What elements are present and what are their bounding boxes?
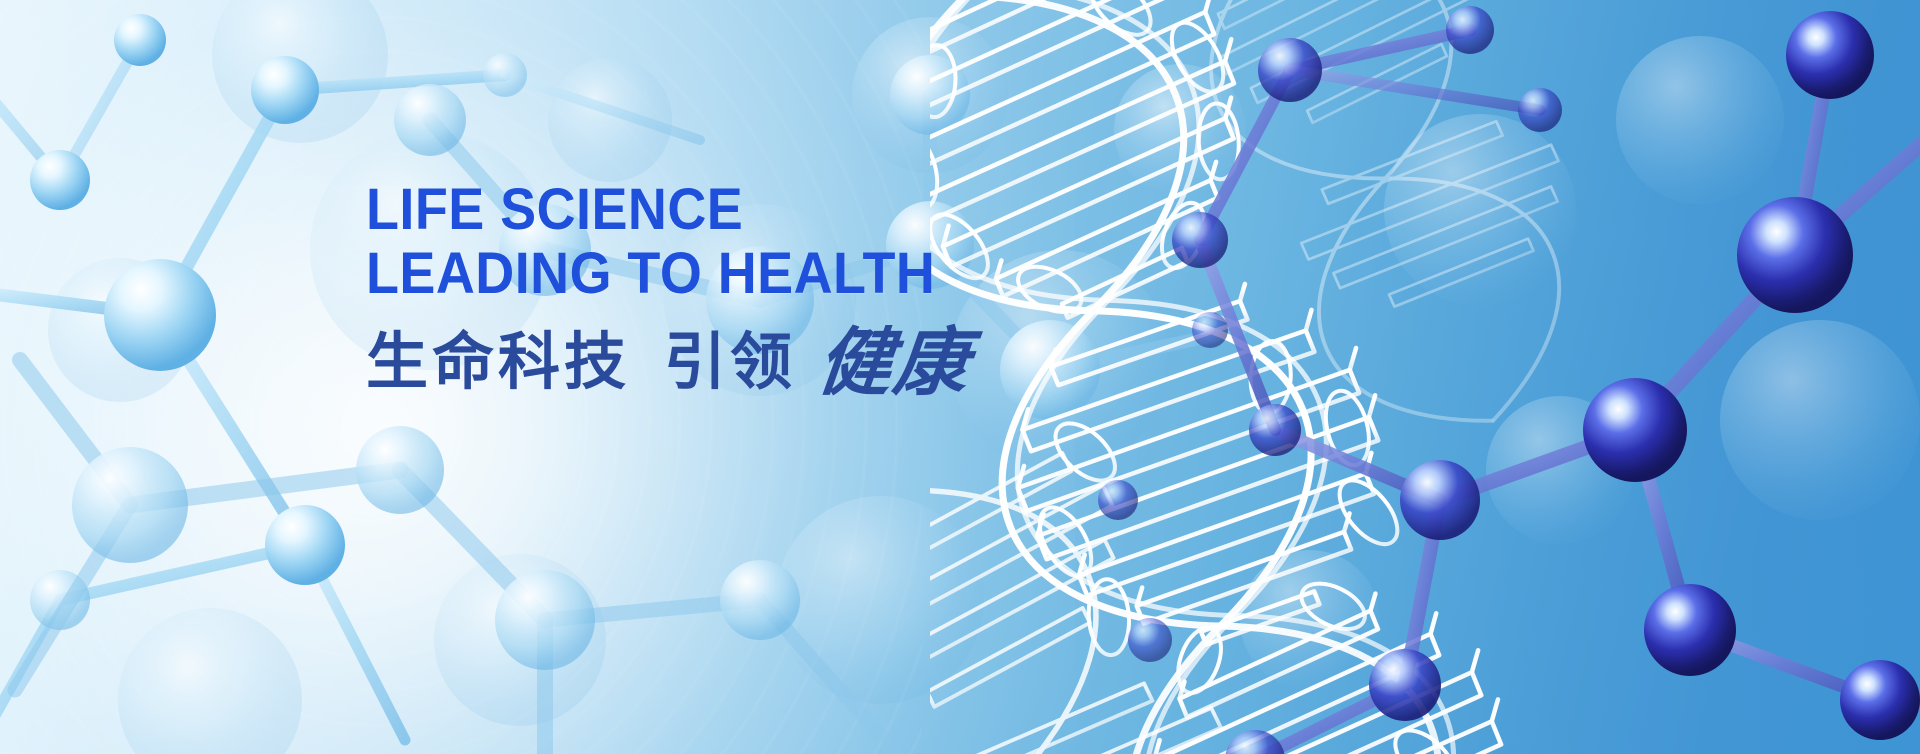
subheadline-part-3: 健康 [814, 328, 973, 398]
subheadline-part-2: 引领 [664, 328, 796, 398]
headline-block: LIFE SCIENCE LEADING TO HEALTH 生命科技 引领 健… [366, 178, 978, 398]
hero-banner: LIFE SCIENCE LEADING TO HEALTH 生命科技 引领 健… [0, 0, 1920, 754]
headline-line-1: LIFE SCIENCE [366, 177, 743, 242]
headline-line-2: LEADING TO HEALTH [366, 242, 935, 306]
subheadline: 生命科技 引领 健康 [366, 328, 978, 398]
subheadline-part-1: 生命科技 [366, 328, 630, 398]
page-title: LIFE SCIENCE LEADING TO HEALTH [366, 178, 935, 306]
